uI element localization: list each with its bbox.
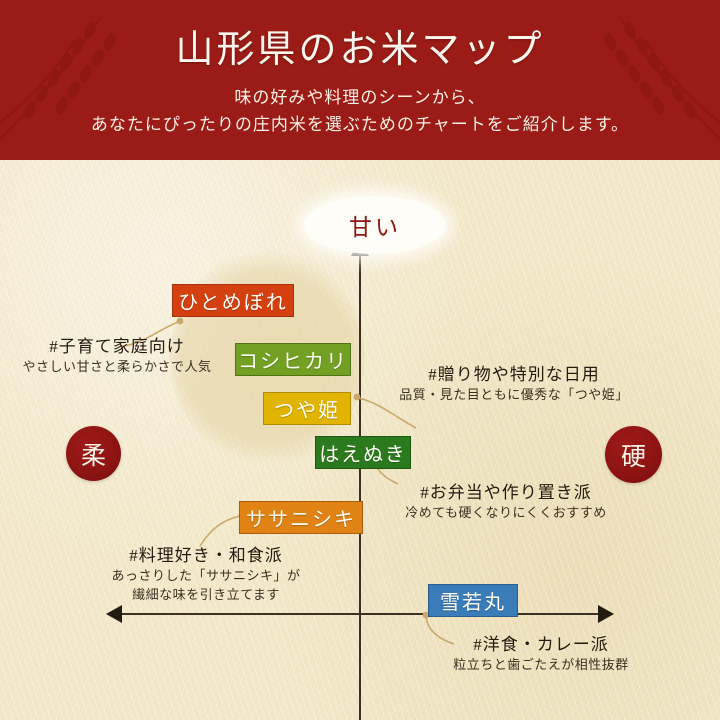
vertical-axis [359, 254, 361, 720]
annotation-desc: 粒立ちと歯ごたえが相性抜群 [428, 655, 654, 674]
annotation-obento: #お弁当や作り置き派 冷めても硬くなりにくくおすすめ [394, 478, 618, 522]
rice-map-infographic: 山形県のお米マップ 味の好みや料理のシーンから、 あなたにぴったりの庄内米を選ぶ… [0, 0, 720, 720]
annotation-desc-1: あっさりした「ササニシキ」が [96, 566, 316, 585]
annotation-okurimono: #贈り物や特別な日用 品質・見た目ともに優秀な「つや姫」 [398, 360, 630, 404]
header-subtitle-line-2: あなたにぴったりの庄内米を選ぶためのチャートをご紹介します。 [0, 111, 720, 138]
rice-positioning-chart: 甘い あっさり 柔 硬 ひとめぼれ コシヒカリ つや姫 はえぬき ササニシキ 雪… [0, 160, 720, 720]
annotation-tag: #子育て家庭向け [14, 332, 220, 357]
annotation-tag: #料理好き・和食派 [96, 541, 316, 566]
annotation-desc: 品質・見た目ともに優秀な「つや姫」 [398, 385, 630, 404]
horizontal-axis [118, 613, 602, 615]
axis-pole-hard: 硬 [605, 426, 662, 483]
header-banner: 山形県のお米マップ 味の好みや料理のシーンから、 あなたにぴったりの庄内米を選ぶ… [0, 0, 720, 160]
annotation-kosodate: #子育て家庭向け やさしい甘さと柔らかさで人気 [14, 332, 220, 376]
annotation-tag: #洋食・カレー派 [428, 630, 654, 655]
arrow-right-icon [598, 605, 614, 623]
arrow-left-icon [106, 605, 122, 623]
annotation-youshoku: #洋食・カレー派 粒立ちと歯ごたえが相性抜群 [428, 630, 654, 674]
variety-chip-yukiwakamaru[interactable]: 雪若丸 [428, 584, 518, 617]
variety-chip-koshihikari[interactable]: コシヒカリ [235, 343, 351, 376]
variety-chip-tsuyahime[interactable]: つや姫 [263, 392, 351, 425]
variety-chip-sasanishiki[interactable]: ササニシキ [239, 501, 363, 534]
axis-pole-soft: 柔 [66, 426, 121, 481]
variety-chip-haenuki[interactable]: はえぬき [315, 436, 411, 469]
annotation-desc: 冷めても硬くなりにくくおすすめ [394, 503, 618, 522]
annotation-desc-2: 繊細な味を引き立てます [96, 585, 316, 604]
axis-pole-sweet: 甘い [304, 196, 446, 254]
header-subtitle: 味の好みや料理のシーンから、 あなたにぴったりの庄内米を選ぶためのチャートをご紹… [0, 84, 720, 138]
annotation-tag: #贈り物や特別な日用 [398, 360, 630, 385]
annotation-desc: やさしい甘さと柔らかさで人気 [14, 357, 220, 376]
annotation-tag: #お弁当や作り置き派 [394, 478, 618, 503]
variety-chip-hitomebore[interactable]: ひとめぼれ [172, 284, 294, 317]
page-title: 山形県のお米マップ [0, 18, 720, 73]
annotation-ryouri: #料理好き・和食派 あっさりした「ササニシキ」が 繊細な味を引き立てます [96, 541, 316, 604]
header-subtitle-line-1: 味の好みや料理のシーンから、 [0, 84, 720, 111]
